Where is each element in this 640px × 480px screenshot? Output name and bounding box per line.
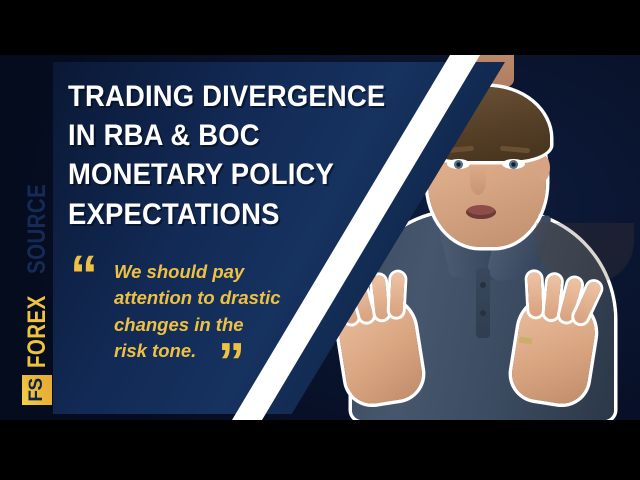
pull-quote: “ We should pay attention to drastic cha… (70, 255, 320, 364)
headline-line-2: IN RBA & BOC (68, 116, 431, 155)
quote-line-4: risk tone. (114, 338, 314, 364)
headline-line-1: TRADING DIVERGENCE (68, 77, 431, 116)
headline-text: TRADING DIVERGENCE IN RBA & BOC MONETARY… (68, 77, 431, 234)
brand-word-forex: FOREX (23, 295, 52, 368)
letterbox-bar-top (0, 0, 640, 55)
brand-word-source: SOURCE (23, 184, 52, 274)
shirt-button-bottom (480, 310, 486, 316)
quote-text: We should pay attention to drastic chang… (114, 259, 314, 364)
letterbox-bar-bottom (0, 420, 640, 480)
quote-line-2: attention to drastic (114, 285, 314, 311)
presenter-eye-left (447, 159, 470, 169)
finger-r1 (527, 272, 542, 317)
headline-line-3: MONETARY POLICY (68, 155, 431, 194)
presenter-ring (519, 336, 533, 344)
quote-open-mark: “ (70, 255, 98, 295)
brand-logo: FS FOREX SOURCE (19, 105, 55, 405)
presenter-eye-right (502, 159, 525, 169)
presenter-mouth (466, 205, 496, 219)
shirt-button-top (480, 282, 486, 288)
fs-logo-mark: FS (22, 375, 52, 405)
quote-line-1: We should pay (114, 259, 314, 285)
presenter-ear-right (536, 155, 550, 181)
quote-close-mark: ” (218, 343, 245, 382)
quote-line-3: changes in the (114, 312, 314, 338)
presenter-iris-left (454, 160, 463, 169)
thumbnail-content-frame: FS FOREX SOURCE TRADING DIVERGENCE IN RB… (0, 55, 640, 420)
video-thumbnail: FS FOREX SOURCE TRADING DIVERGENCE IN RB… (0, 0, 640, 480)
presenter-nose (470, 167, 486, 195)
shirt-placket (476, 268, 490, 338)
headline-line-4: EXPECTATIONS (68, 195, 431, 234)
presenter-iris-right (509, 160, 518, 169)
finger-l4 (389, 272, 404, 317)
